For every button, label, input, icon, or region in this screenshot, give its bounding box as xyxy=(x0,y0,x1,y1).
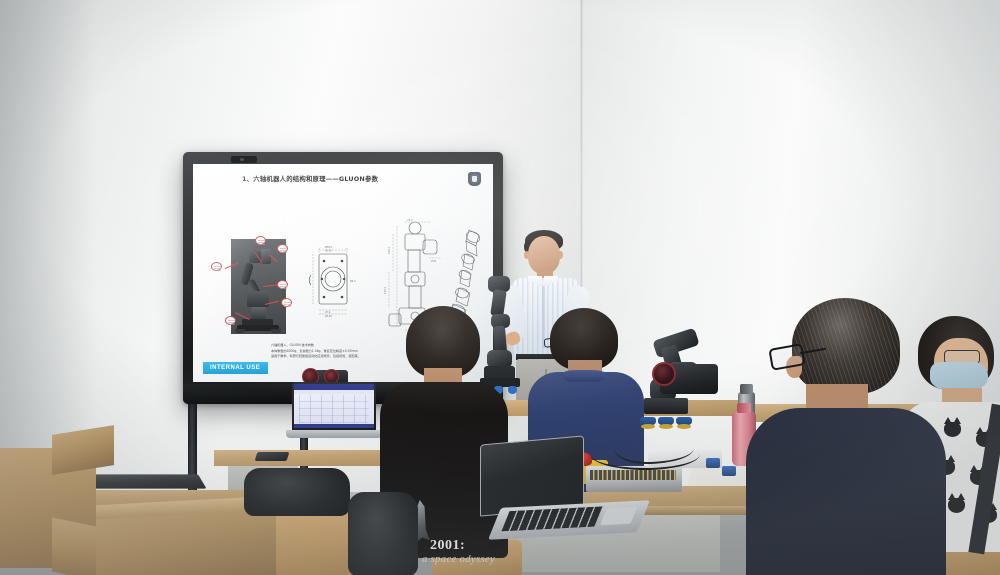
attendee-right-shirt xyxy=(746,408,946,575)
laptop-lid xyxy=(292,382,376,430)
laptop-base xyxy=(286,430,382,438)
backpack-foreground xyxy=(348,492,418,575)
slide-callout-4 xyxy=(277,280,288,289)
backpack-under-desk xyxy=(244,468,350,516)
blue-connector xyxy=(722,466,736,476)
svg-text:138.0: 138.0 xyxy=(387,246,391,254)
laptop-screen-content[interactable] xyxy=(294,384,374,428)
tshirt-print-title: 2001: xyxy=(430,538,465,554)
laptop-trackpad[interactable] xyxy=(600,507,638,526)
svg-text:Ø38: Ø38 xyxy=(431,258,437,263)
smartphone-on-desk[interactable] xyxy=(255,452,290,461)
laptop-spreadsheet[interactable] xyxy=(286,382,382,444)
cardboard-box-side-flap xyxy=(52,517,96,575)
svg-text:26.30: 26.30 xyxy=(325,315,332,318)
slide-callout-6 xyxy=(225,316,236,325)
cardboard-box-front xyxy=(96,508,290,575)
presenter-ear xyxy=(558,251,563,259)
attendee-center-collar xyxy=(562,370,606,382)
internal-use-badge: INTERNAL USE xyxy=(203,362,268,374)
laptop-keyboard[interactable] xyxy=(501,506,603,531)
svg-text:60.00: 60.00 xyxy=(325,250,332,253)
company-shield-logo xyxy=(468,172,481,186)
slide-callout-3 xyxy=(277,244,288,253)
eyeglasses-icon xyxy=(544,337,561,348)
slide-callout-5 xyxy=(281,298,292,307)
flat-monitor-stacked xyxy=(77,474,206,488)
tshirt-print-subtitle: a space odyssey xyxy=(422,554,495,565)
classroom-scene: 1、六轴机器人的结构和原理——GLUON参数 xyxy=(0,0,1000,575)
svg-text:110.0: 110.0 xyxy=(383,286,387,294)
svg-text:Ø58.0: Ø58.0 xyxy=(325,246,333,249)
slide-callout-1 xyxy=(211,262,222,271)
webcam-icon xyxy=(231,156,257,163)
attendee-right-hair-texture xyxy=(792,298,900,394)
presenter-head xyxy=(528,236,560,274)
slide-title: 1、六轴机器人的结构和原理——GLUON参数 xyxy=(242,174,484,183)
svg-text:76.0: 76.0 xyxy=(407,218,413,222)
attendee-right xyxy=(756,298,936,575)
svg-text:Ø4.5: Ø4.5 xyxy=(350,280,356,283)
slide-callout-2 xyxy=(255,236,266,245)
svg-text:27.0: 27.0 xyxy=(325,311,331,314)
cad-top-view: Ø58.060.00 27.026.30 Ø4.5 xyxy=(305,242,361,320)
camera-rig-center xyxy=(652,356,728,400)
blue-connector xyxy=(706,458,720,468)
laptop-silver[interactable] xyxy=(480,440,630,532)
presenter-ear xyxy=(524,251,529,259)
